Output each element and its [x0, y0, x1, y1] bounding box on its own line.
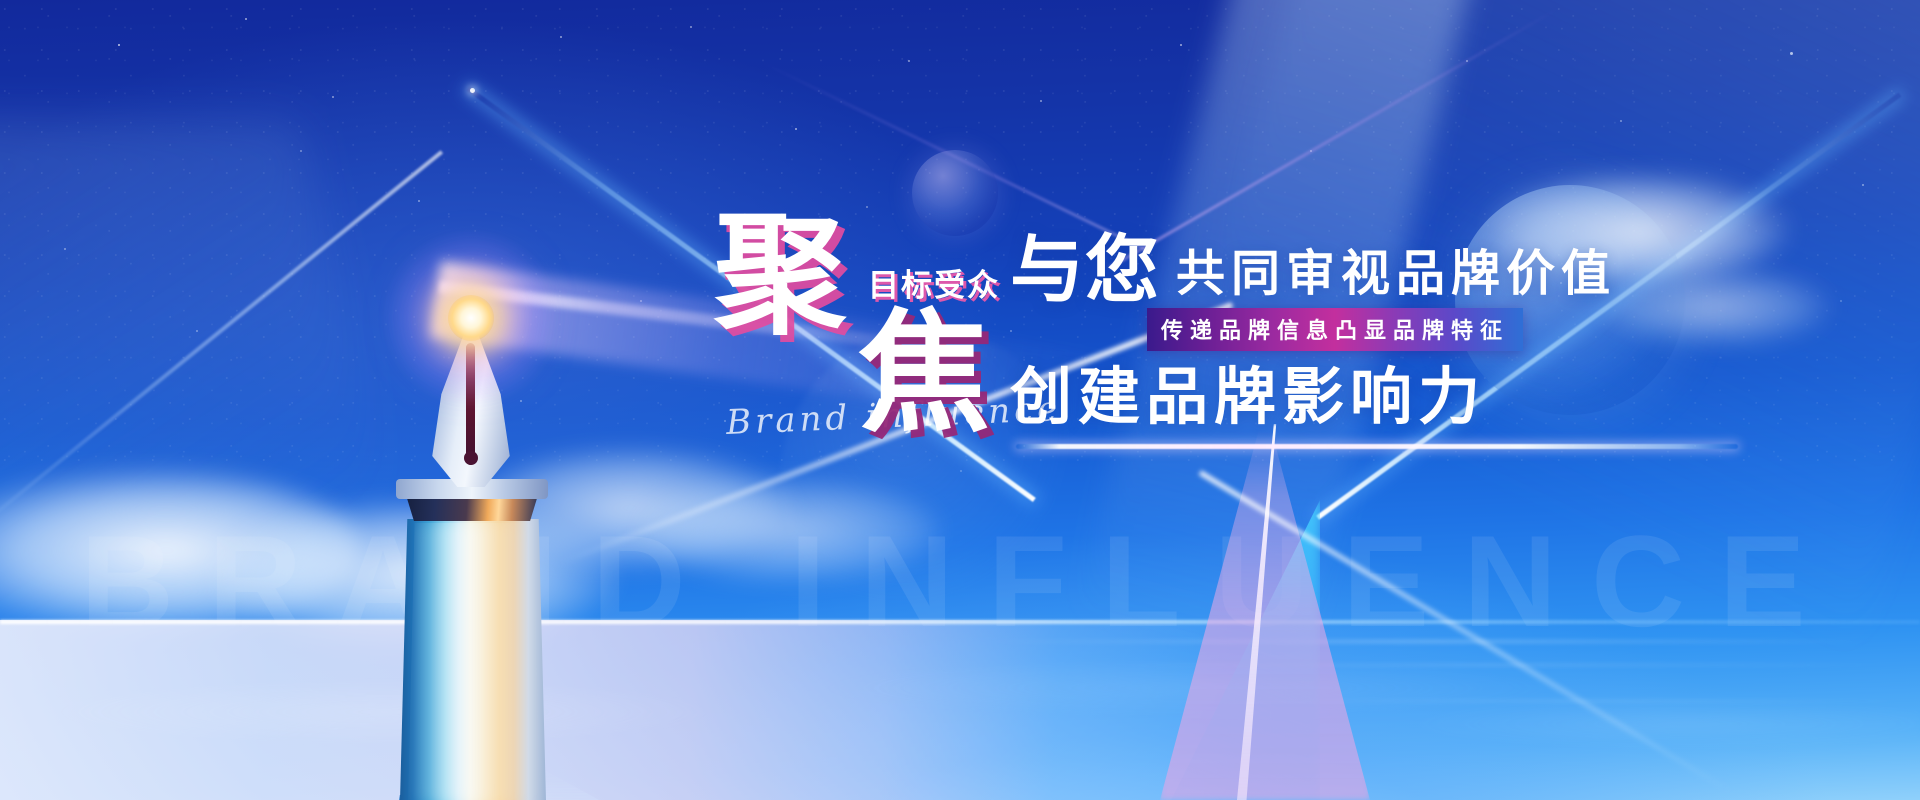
lead-text: 与您 — [1010, 234, 1160, 305]
brand-banner: BRAND INFLUENCE 聚 目标受众 Brand influence 焦… — [0, 0, 1920, 800]
horizon-line — [0, 620, 1920, 624]
headline-right-column: 与您 共同审视品牌价值 传递品牌信息凸显品牌特征 创建品牌影响力 — [1010, 234, 1870, 449]
lighthouse-collar — [396, 479, 548, 499]
light-streak-lower-left — [0, 150, 443, 543]
pen-nib-shape — [414, 315, 528, 487]
headline-char-top: 聚 — [714, 210, 848, 342]
value-proposition-text: 共同审视品牌价值 — [1176, 250, 1616, 305]
ground-wave-texture — [0, 640, 1920, 760]
cloud-shape — [0, 468, 360, 633]
audience-tag: 目标受众 — [868, 260, 1000, 305]
pen-nib-slit — [466, 343, 475, 465]
glowing-lamp-icon — [448, 295, 494, 341]
pen-nib-breather-hole — [464, 451, 478, 465]
glow-divider-icon — [1016, 444, 1738, 449]
headline-char-bottom: 焦 — [858, 308, 992, 440]
tagline-text: 创建品牌影响力 — [1010, 365, 1870, 430]
lamp-halo — [386, 233, 556, 403]
headline-block: 聚 目标受众 Brand influence 焦 与您 共同审视品牌价值 传递品… — [690, 200, 1890, 580]
primary-line: 与您 共同审视品牌价值 — [1010, 234, 1870, 305]
ribbon-badge: 传递品牌信息凸显品牌特征 — [1147, 308, 1523, 351]
lighthouse-collar-dark — [406, 495, 538, 521]
